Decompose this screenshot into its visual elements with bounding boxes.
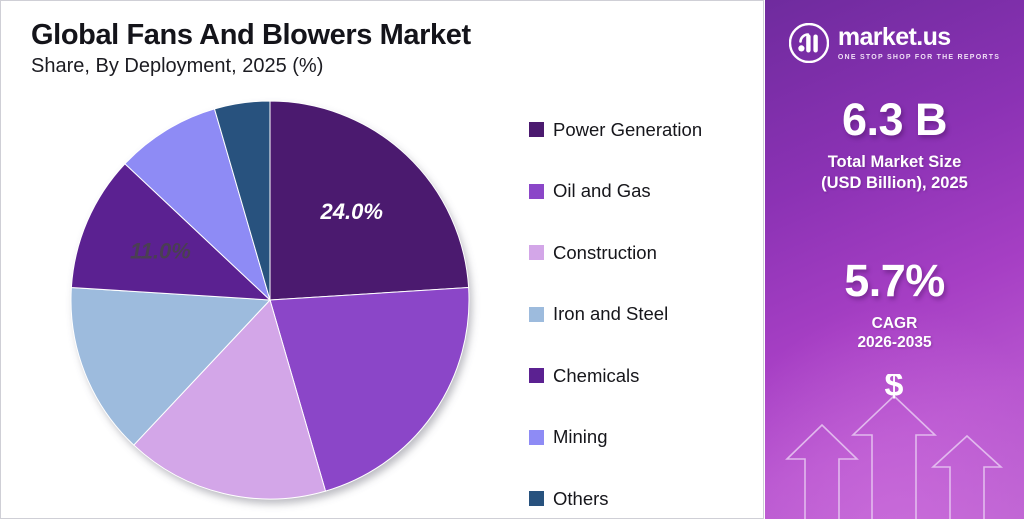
pie-slice-group xyxy=(71,101,469,499)
legend-swatch-icon xyxy=(529,491,544,506)
pie-chart: 24.0%11.0% xyxy=(71,93,471,508)
brand-name: market.us xyxy=(838,25,951,50)
legend-swatch-icon xyxy=(529,245,544,260)
legend-item-label: Mining xyxy=(553,428,608,447)
legend-swatch-icon xyxy=(529,368,544,383)
brand-text: market.us ONE STOP SHOP FOR THE REPORTS xyxy=(838,25,1000,61)
dollar-symbol: $ xyxy=(885,374,904,404)
legend-swatch-icon xyxy=(529,430,544,445)
stat-market-size-caption-line1: Total Market Size xyxy=(765,152,1024,173)
legend-swatch-icon xyxy=(529,184,544,199)
stat-market-size: 6.3 B Total Market Size (USD Billion), 2… xyxy=(765,97,1024,193)
legend-item[interactable]: Others xyxy=(529,468,744,519)
pie-chart-svg: 24.0%11.0% xyxy=(71,93,471,508)
legend-item-label: Others xyxy=(553,490,609,509)
legend-item-label: Construction xyxy=(553,244,657,263)
chart-panel: Global Fans And Blowers Market Share, By… xyxy=(0,0,764,519)
stat-cagr-value: 5.7% xyxy=(765,258,1024,304)
brand-lockup: market.us ONE STOP SHOP FOR THE REPORTS xyxy=(765,23,1024,63)
stat-cagr-caption-line1: CAGR xyxy=(765,314,1024,334)
page-subtitle: Share, By Deployment, 2025 (%) xyxy=(31,55,731,78)
legend-item[interactable]: Chemicals xyxy=(529,345,744,407)
legend-item-label: Oil and Gas xyxy=(553,182,651,201)
legend-item[interactable]: Mining xyxy=(529,407,744,469)
stat-market-size-caption-line2: (USD Billion), 2025 xyxy=(765,173,1024,194)
legend-item[interactable]: Construction xyxy=(529,222,744,284)
legend-item[interactable]: Power Generation xyxy=(529,99,744,161)
stat-cagr: 5.7% CAGR 2026-2035 xyxy=(765,258,1024,353)
legend-item-label: Iron and Steel xyxy=(553,305,668,324)
legend-swatch-icon xyxy=(529,122,544,137)
legend-swatch-icon xyxy=(529,307,544,322)
pie-slice-label: 11.0% xyxy=(130,238,191,263)
legend-item[interactable]: Oil and Gas xyxy=(529,161,744,223)
growth-arrows-icon: $ xyxy=(765,374,1024,519)
brand-tagline: ONE STOP SHOP FOR THE REPORTS xyxy=(838,54,1000,61)
stat-market-size-caption: Total Market Size (USD Billion), 2025 xyxy=(765,152,1024,194)
legend-item-label: Chemicals xyxy=(553,367,639,386)
growth-arrows-decoration: $ xyxy=(765,374,1024,519)
chart-legend: Power GenerationOil and GasConstructionI… xyxy=(529,99,744,519)
legend-item-label: Power Generation xyxy=(553,121,702,140)
market-us-logo-icon xyxy=(789,23,829,63)
stat-market-size-value: 6.3 B xyxy=(765,97,1024,143)
stat-cagr-caption: CAGR 2026-2035 xyxy=(765,314,1024,353)
stat-cagr-caption-line2: 2026-2035 xyxy=(765,333,1024,353)
infographic-root: Global Fans And Blowers Market Share, By… xyxy=(0,0,1024,519)
title-block: Global Fans And Blowers Market Share, By… xyxy=(31,19,731,78)
legend-item[interactable]: Iron and Steel xyxy=(529,284,744,346)
pie-slice-label: 24.0% xyxy=(320,199,383,224)
stats-panel: market.us ONE STOP SHOP FOR THE REPORTS … xyxy=(765,0,1024,519)
page-title: Global Fans And Blowers Market xyxy=(31,19,731,51)
